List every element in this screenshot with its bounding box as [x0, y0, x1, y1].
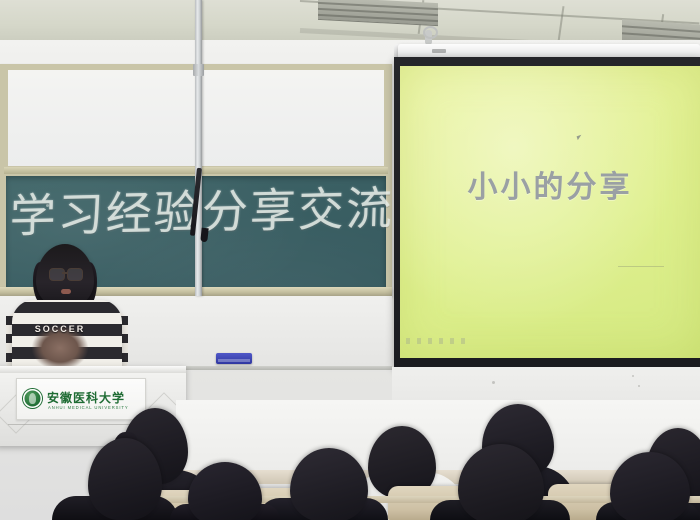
sweater-graphic-text: SOCCER [33, 324, 87, 334]
university-logo-icon [23, 389, 42, 408]
slide-title-text: 小小的分享 [400, 162, 700, 206]
housing-label [432, 49, 446, 53]
blue-board-eraser[interactable] [216, 353, 252, 364]
pole-joint [193, 64, 204, 76]
support-pole [195, 0, 202, 296]
glasses-bridge [62, 272, 68, 274]
projection-screen[interactable]: 小小的分享 [400, 66, 700, 358]
slide-faint-line [618, 266, 664, 267]
university-sign: 安徽医科大学 ANHUI MEDICAL UNIVERSITY [16, 378, 146, 420]
lectern-top-edge [0, 366, 186, 373]
screen-mount-bracket [425, 30, 432, 45]
lecture-hall-photo: 学习经验分享交流会 小小的分享 [0, 0, 700, 520]
university-name-en: ANHUI MEDICAL UNIVERSITY [48, 405, 129, 410]
glasses-icon [67, 268, 83, 281]
glasses-icon [49, 268, 65, 281]
projector-glow [400, 66, 700, 358]
slide-footer-marks [406, 338, 466, 344]
university-name-cn: 安徽医科大学 [47, 389, 125, 406]
rear-whiteboard [176, 400, 700, 472]
speaker-mouth [61, 289, 71, 294]
